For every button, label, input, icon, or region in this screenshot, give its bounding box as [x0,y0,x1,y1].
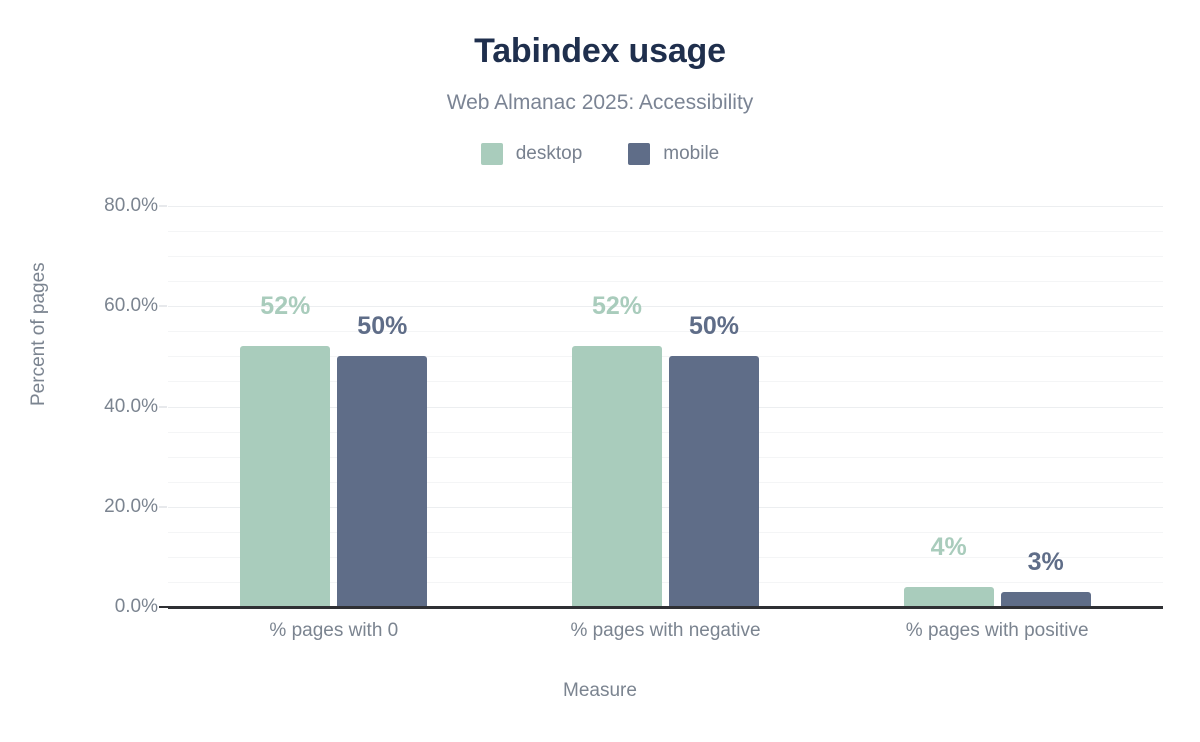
x-axis-title: Measure [0,680,1200,702]
gridline-minor [168,281,1163,282]
legend-swatch-mobile [628,143,650,165]
bar-value-label-desktop-2: 4% [931,533,967,562]
y-axis-tick-mark [159,506,167,507]
gridline-minor [168,231,1163,232]
chart-title: Tabindex usage [0,32,1200,71]
legend-item-mobile[interactable]: mobile [628,143,719,165]
bar-desktop-2[interactable] [904,587,994,607]
x-axis-line [168,606,1163,609]
bar-mobile-0[interactable] [337,356,427,607]
x-axis-tick-label: % pages with 0 [269,620,398,642]
y-axis-tick-label: 40.0% [28,396,158,418]
bar-value-label-mobile-1: 50% [689,312,739,341]
y-axis-tick-label: 60.0% [28,295,158,317]
bar-value-label-mobile-0: 50% [357,312,407,341]
bar-mobile-1[interactable] [669,356,759,607]
gridline-minor [168,331,1163,332]
bar-value-label-desktop-0: 52% [260,292,310,321]
chart-legend: desktop mobile [0,143,1200,165]
y-axis-tick-label: 80.0% [28,195,158,217]
y-axis-tick-label: 0.0% [28,596,158,618]
y-axis-tick-mark [159,306,167,307]
x-axis-tick-label: % pages with negative [570,620,760,642]
bar-desktop-0[interactable] [240,346,330,607]
y-axis-tick-mark [159,206,167,207]
gridline-major [168,306,1163,307]
bar-value-label-mobile-2: 3% [1028,548,1064,577]
gridline-major [168,206,1163,207]
plot-area [168,206,1163,607]
y-axis-tick-label: 20.0% [28,496,158,518]
bar-value-label-desktop-1: 52% [592,292,642,321]
y-axis-tick-mark [159,406,167,407]
x-axis-tick-label: % pages with positive [906,620,1089,642]
y-axis-tick-mark [159,606,168,608]
legend-label-desktop: desktop [516,143,583,165]
bar-desktop-1[interactable] [572,346,662,607]
gridline-minor [168,256,1163,257]
chart-container: Tabindex usage Web Almanac 2025: Accessi… [0,0,1200,742]
y-axis-title: Percent of pages [28,262,50,406]
legend-item-desktop[interactable]: desktop [481,143,583,165]
bar-mobile-2[interactable] [1001,592,1091,607]
chart-subtitle: Web Almanac 2025: Accessibility [0,91,1200,115]
legend-swatch-desktop [481,143,503,165]
legend-label-mobile: mobile [663,143,719,165]
